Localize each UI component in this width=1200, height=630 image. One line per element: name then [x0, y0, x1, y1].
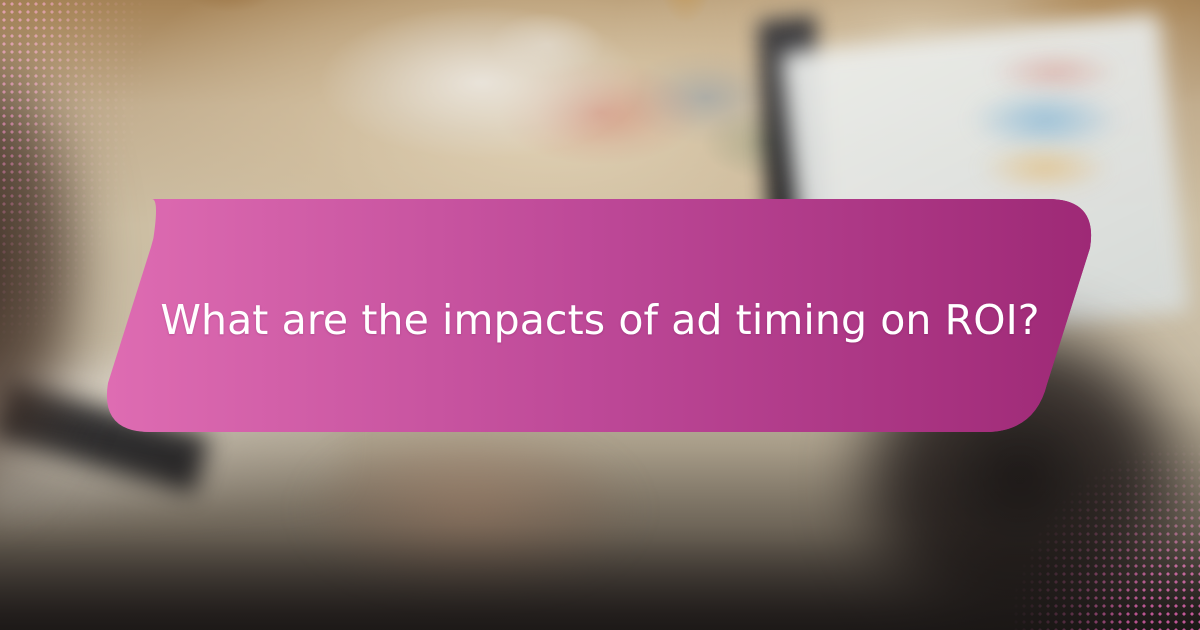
- background-foreground-shadow: [0, 0, 1200, 630]
- background-photo: [0, 0, 1200, 630]
- social-card: What are the impacts of ad timing on ROI…: [0, 0, 1200, 630]
